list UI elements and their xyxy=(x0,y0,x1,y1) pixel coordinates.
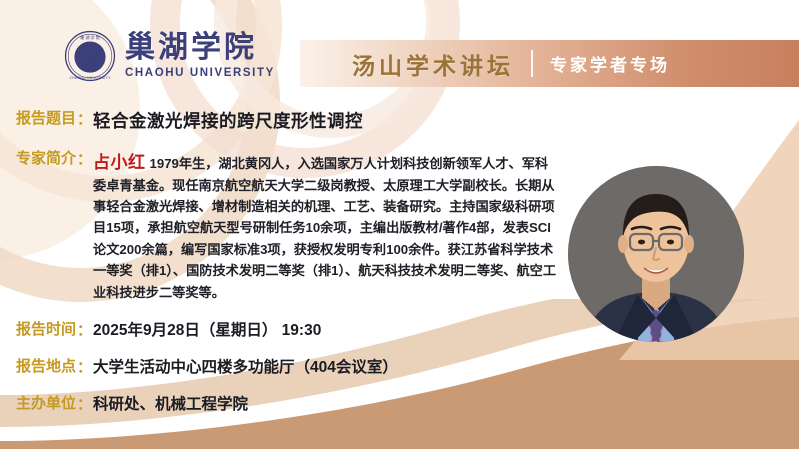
logo-name-en: CHAOHU UNIVERSITY xyxy=(125,68,275,80)
report-title-row: 报告题目 ： 轻合金激光焊接的跨尺度形性调控 xyxy=(0,108,799,134)
report-place-row: 报告地点 ： 大学生活动中心四楼多功能厅（404会议室） xyxy=(0,356,799,379)
organizer-label: 主办单位 xyxy=(16,393,76,416)
svg-text:巢 湖 学 院: 巢 湖 学 院 xyxy=(80,34,100,40)
organizer-value: 科研处、机械工程学院 xyxy=(93,393,248,416)
report-title-label: 报告题目 xyxy=(16,108,76,131)
poster-header: 1977 巢 湖 学 院 CHAOHU UNIVERSITY 巢湖学院 CHAO… xyxy=(0,0,799,104)
report-time-value: 2025年9月28日（星期日） 19:30 xyxy=(93,319,321,342)
university-logo: 1977 巢 湖 学 院 CHAOHU UNIVERSITY 巢湖学院 CHAO… xyxy=(64,30,275,82)
banner-subtitle: 专家学者专场 xyxy=(550,51,670,76)
poster-canvas: 1977 巢 湖 学 院 CHAOHU UNIVERSITY 巢湖学院 CHAO… xyxy=(0,0,799,449)
speaker-bio-body: 占小红1979年生，湖北黄冈人，入选国家万人计划科技创新领军人才、军科委卓青基金… xyxy=(93,148,559,303)
poster-content: 报告题目 ： 轻合金激光焊接的跨尺度形性调控 专家简介 ： 占小红1979年生，… xyxy=(0,104,799,431)
speaker-name: 占小红 xyxy=(93,153,146,172)
chaohu-university-seal-icon: 1977 巢 湖 学 院 CHAOHU UNIVERSITY xyxy=(64,30,116,82)
report-time-label: 报告时间 xyxy=(16,319,76,342)
report-time-colon: ： xyxy=(77,319,92,340)
report-time-row: 报告时间 ： 2025年9月28日（星期日） 19:30 xyxy=(0,319,799,342)
event-banner: 汤山学术讲坛 专家学者专场 xyxy=(300,40,799,87)
svg-text:CHAOHU UNIVERSITY: CHAOHU UNIVERSITY xyxy=(69,76,111,80)
report-title-value: 轻合金激光焊接的跨尺度形性调控 xyxy=(93,108,363,134)
report-place-value: 大学生活动中心四楼多功能厅（404会议室） xyxy=(93,356,398,379)
report-place-colon: ： xyxy=(77,356,92,377)
speaker-bio-row: 专家简介 ： 占小红1979年生，湖北黄冈人，入选国家万人计划科技创新领军人才、… xyxy=(0,148,799,303)
report-place-label: 报告地点 xyxy=(16,356,76,379)
speaker-bio-text: 1979年生，湖北黄冈人，入选国家万人计划科技创新领军人才、军科委卓青基金。现任… xyxy=(93,156,556,299)
organizer-colon: ： xyxy=(77,393,92,414)
logo-name-cn: 巢湖学院 xyxy=(125,33,275,63)
event-meta: 报告时间 ： 2025年9月28日（星期日） 19:30 报告地点 ： 大学生活… xyxy=(0,319,799,417)
organizer-row: 主办单位 ： 科研处、机械工程学院 xyxy=(0,393,799,416)
speaker-bio-colon: ： xyxy=(77,148,92,169)
speaker-bio-label: 专家简介 xyxy=(16,148,76,171)
report-title-colon: ： xyxy=(77,108,92,129)
svg-text:1977: 1977 xyxy=(86,59,93,63)
banner-main-title: 汤山学术讲坛 xyxy=(352,47,514,81)
banner-divider xyxy=(531,50,533,77)
